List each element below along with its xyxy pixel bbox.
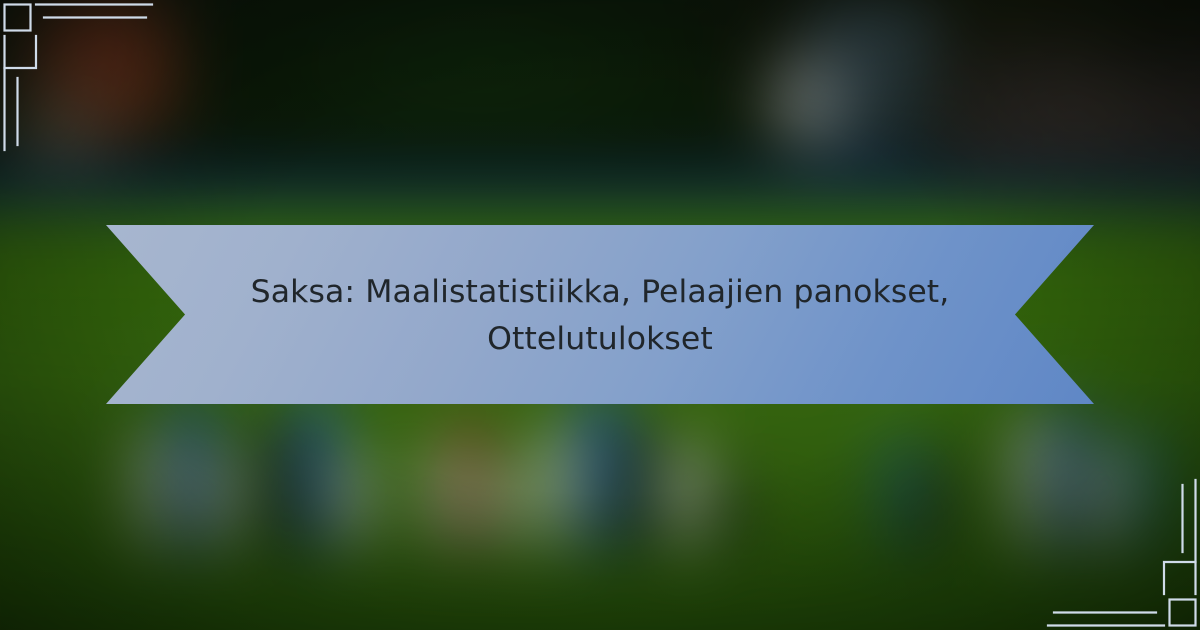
title-line-1: Saksa: Maalistatistiikka, Pelaajien pano… [251,274,950,310]
title-line-2: Ottelutulokset [487,321,713,357]
page-title: Saksa: Maalistatistiikka, Pelaajien pano… [220,267,980,362]
title-ribbon: Saksa: Maalistatistiikka, Pelaajien pano… [106,225,1094,404]
banner-stage: Saksa: Maalistatistiikka, Pelaajien pano… [0,0,1200,630]
